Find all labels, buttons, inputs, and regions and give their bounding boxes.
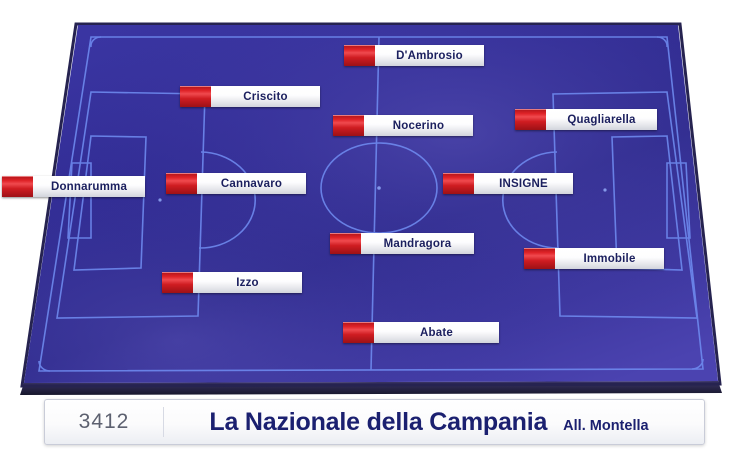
player-name: D'Ambrosio <box>375 45 484 66</box>
team-name: La Nazionale della Campania <box>209 408 547 437</box>
team-name-wrap: La Nazionale della Campania All. Montell… <box>164 408 704 437</box>
player-name: Nocerino <box>364 115 473 136</box>
formation-graphic: DonnarummaCannavaroCriscitoIzzoD'Ambrosi… <box>0 0 738 462</box>
player-color-chip-icon <box>515 109 546 130</box>
player-name: Izzo <box>193 272 302 293</box>
coach-name: All. Montella <box>563 418 648 434</box>
line-center-spot <box>377 186 381 190</box>
player-badge-criscito[interactable]: Criscito <box>180 86 320 107</box>
player-name: Mandragora <box>361 233 474 254</box>
player-badge-donnarumma[interactable]: Donnarumma <box>2 176 145 197</box>
player-badge-mandragora[interactable]: Mandragora <box>330 233 474 254</box>
player-color-chip-icon <box>343 322 374 343</box>
player-name: INSIGNE <box>474 173 573 194</box>
player-name: Quagliarella <box>546 109 657 130</box>
player-badge-immobile[interactable]: Immobile <box>524 248 664 269</box>
player-name: Cannavaro <box>197 173 306 194</box>
player-name: Immobile <box>555 248 664 269</box>
player-color-chip-icon <box>344 45 375 66</box>
player-name: Donnarumma <box>33 176 145 197</box>
player-badge-dambrosio[interactable]: D'Ambrosio <box>344 45 484 66</box>
player-badge-izzo[interactable]: Izzo <box>162 272 302 293</box>
player-color-chip-icon <box>524 248 555 269</box>
player-badge-abate[interactable]: Abate <box>343 322 499 343</box>
player-color-chip-icon <box>443 173 474 194</box>
player-color-chip-icon <box>333 115 364 136</box>
player-name: Criscito <box>211 86 320 107</box>
player-badge-cannavaro[interactable]: Cannavaro <box>166 173 306 194</box>
player-badge-quagliarella[interactable]: Quagliarella <box>515 109 657 130</box>
player-color-chip-icon <box>166 173 197 194</box>
player-badge-insigne[interactable]: INSIGNE <box>443 173 573 194</box>
line-left-penalty-spot <box>158 198 161 201</box>
player-color-chip-icon <box>162 272 193 293</box>
player-name: Abate <box>374 322 499 343</box>
formation-info-bar: 3412 La Nazionale della Campania All. Mo… <box>44 399 705 445</box>
line-right-penalty-spot <box>603 188 606 191</box>
football-pitch: DonnarummaCannavaroCriscitoIzzoD'Ambrosi… <box>0 0 738 400</box>
player-color-chip-icon <box>180 86 211 107</box>
formation-code: 3412 <box>45 410 163 434</box>
player-color-chip-icon <box>330 233 361 254</box>
player-badge-nocerino[interactable]: Nocerino <box>333 115 473 136</box>
player-color-chip-icon <box>2 176 33 197</box>
